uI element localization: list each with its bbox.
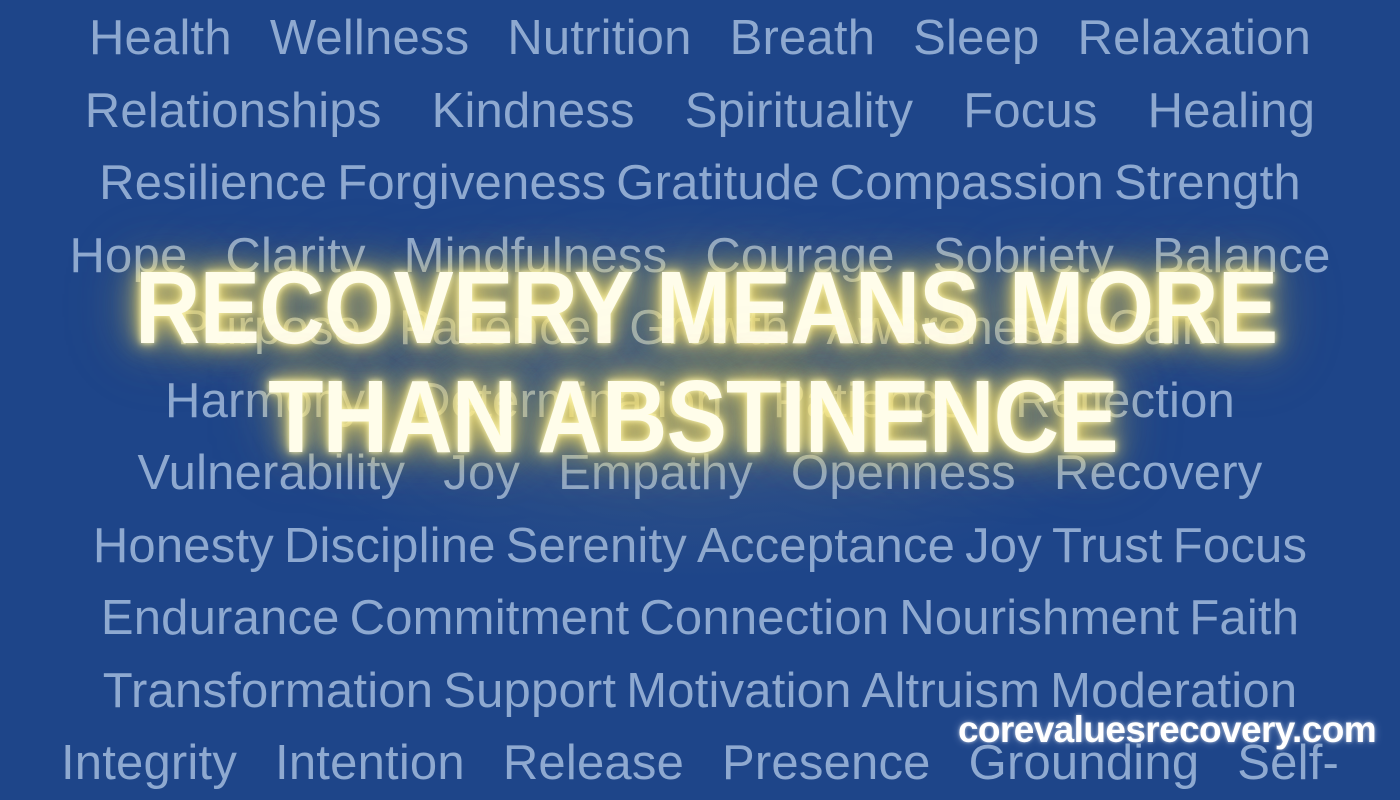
word-cloud-word: Sleep (913, 11, 1039, 65)
word-cloud-word: Discipline (284, 519, 496, 573)
word-cloud-word: Nourishment (899, 591, 1179, 645)
word-cloud-word: Determination (415, 374, 723, 428)
word-cloud-word: Trust (1052, 519, 1163, 573)
word-cloud-word: Recovery (1054, 446, 1263, 500)
word-cloud-word: Health (89, 11, 232, 65)
word-cloud-word: Clarity (225, 229, 365, 283)
word-cloud-word: Nutrition (507, 11, 691, 65)
word-cloud-word: Breath (730, 11, 876, 65)
word-cloud-word: Patience (773, 374, 965, 428)
word-cloud-word: Serenity (506, 519, 687, 573)
word-cloud-word: Growth (629, 301, 788, 355)
word-cloud-word: Healing (1148, 84, 1316, 138)
word-cloud-word: Wellness (270, 11, 470, 65)
word-cloud-row: HopeClarityMindfulnessCourageSobrietyBal… (0, 220, 1400, 293)
word-cloud-word: Openness (791, 446, 1016, 500)
word-cloud-word: Sobriety (933, 229, 1114, 283)
word-cloud-word: Connection (639, 591, 889, 645)
word-cloud-word: Mindfulness (404, 229, 668, 283)
word-cloud-word: Reflection (1015, 374, 1235, 428)
word-cloud-row: ResilienceForgivenessGratitudeCompassion… (0, 147, 1400, 220)
word-cloud-row: HonestyDisciplineSerenityAcceptanceJoyTr… (0, 510, 1400, 583)
word-cloud-word: Joy (965, 519, 1042, 573)
word-cloud-word: Honesty (93, 519, 274, 573)
website-url[interactable]: corevaluesrecovery.com (958, 709, 1376, 751)
word-cloud-word: Presence (722, 736, 931, 790)
word-cloud-word: Focus (963, 84, 1097, 138)
word-cloud-word: Vulnerability (138, 446, 406, 500)
word-cloud-word: Calm (1108, 301, 1223, 355)
word-cloud-word: Commitment (350, 591, 630, 645)
word-cloud-word: Strength (1114, 156, 1301, 210)
word-cloud-word: Spirituality (685, 84, 913, 138)
word-cloud-word: Patience (399, 301, 591, 355)
word-cloud-row: EnduranceCommitmentConnectionNourishment… (0, 582, 1400, 655)
word-cloud-word: Motivation (626, 664, 851, 718)
word-cloud-word: Kindness (432, 84, 635, 138)
word-cloud-word: Balance (1152, 229, 1330, 283)
poster-canvas: HealthWellnessNutritionBreathSleepRelaxa… (0, 0, 1400, 800)
word-cloud-word: Resilience (99, 156, 327, 210)
word-cloud-word: Gratitude (616, 156, 819, 210)
word-cloud-word: Integrity (61, 736, 237, 790)
word-cloud-word: Joy (443, 446, 520, 500)
word-cloud-word: Release (503, 736, 684, 790)
word-cloud-word: Transformation (103, 664, 434, 718)
background-word-cloud: HealthWellnessNutritionBreathSleepRelaxa… (0, 0, 1400, 800)
word-cloud-word: Relationships (85, 84, 382, 138)
word-cloud-word: Endurance (101, 591, 340, 645)
word-cloud-row: PurposePatienceGrowthAwarenessCalm (0, 292, 1400, 365)
word-cloud-word: Intention (275, 736, 465, 790)
word-cloud-word: Forgiveness (337, 156, 606, 210)
word-cloud-word: Empathy (558, 446, 753, 500)
word-cloud-word: Focus (1173, 519, 1307, 573)
word-cloud-word: Harmony (165, 374, 365, 428)
word-cloud-word: Support (443, 664, 616, 718)
word-cloud-word: Purpose (177, 301, 361, 355)
word-cloud-word: Relaxation (1077, 11, 1311, 65)
word-cloud-word: Courage (705, 229, 894, 283)
word-cloud-row: HealthWellnessNutritionBreathSleepRelaxa… (0, 2, 1400, 75)
word-cloud-word: Faith (1189, 591, 1299, 645)
word-cloud-word: Acceptance (697, 519, 955, 573)
word-cloud-word: Compassion (830, 156, 1104, 210)
word-cloud-row: VulnerabilityJoyEmpathyOpennessRecovery (0, 437, 1400, 510)
word-cloud-word: Hope (69, 229, 187, 283)
word-cloud-row: HarmonyDeterminationPatienceReflection (0, 365, 1400, 438)
word-cloud-word: Awareness (826, 301, 1069, 355)
word-cloud-row: RelationshipsKindnessSpiritualityFocusHe… (0, 75, 1400, 148)
